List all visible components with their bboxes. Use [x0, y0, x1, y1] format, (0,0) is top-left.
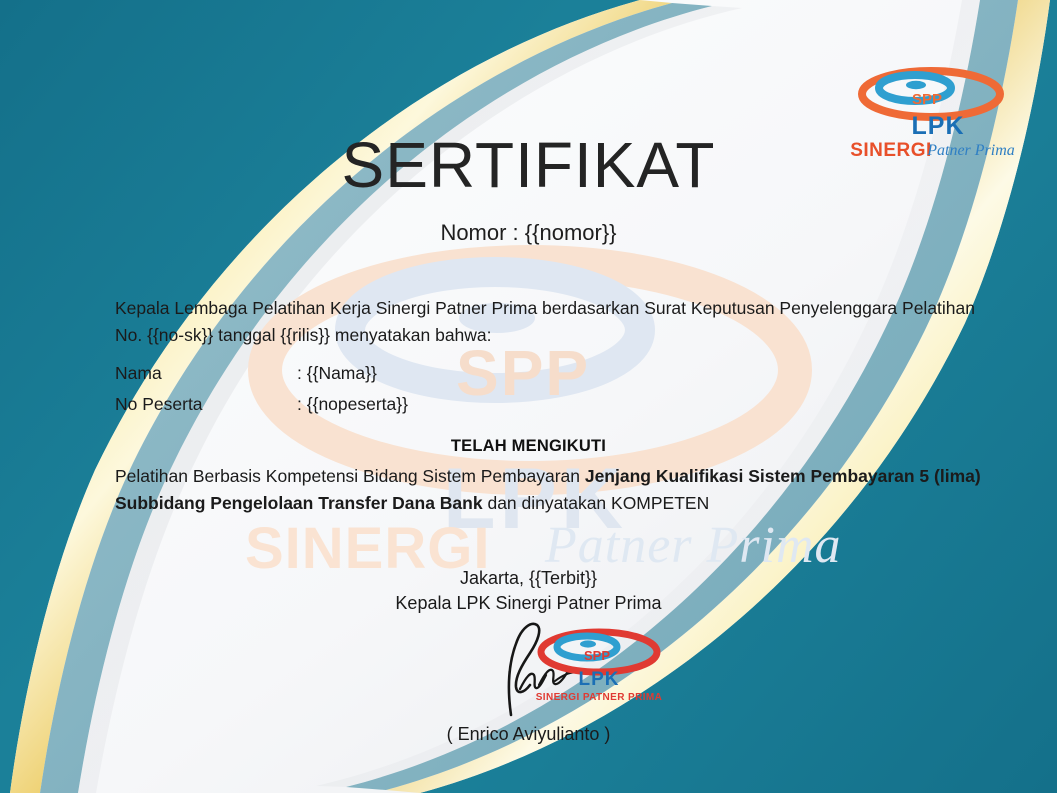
- svg-text:SPP: SPP: [584, 648, 610, 663]
- section-heading-telah-mengikuti: TELAH MENGIKUTI: [0, 437, 1057, 456]
- certificate-content: SERTIFIKAT Nomor : {{nomor}} Kepala Lemb…: [0, 0, 1057, 793]
- signature-place-block: Jakarta, {{Terbit}} Kepala LPK Sinergi P…: [0, 566, 1057, 616]
- field-value-no-peserta: : {{nopeserta}}: [297, 389, 815, 420]
- field-label-no-peserta: No Peserta: [115, 389, 297, 420]
- field-label-nama: Nama: [115, 358, 297, 389]
- training-desc-part1: Pelatihan Berbasis Kompetensi Bidang Sis…: [115, 466, 585, 486]
- certificate-number: Nomor : {{nomor}}: [0, 220, 1057, 246]
- svg-text:SINERGI PATNER PRIMA: SINERGI PATNER PRIMA: [536, 692, 663, 703]
- field-separator: :: [297, 363, 302, 383]
- field-placeholder-nama: {{Nama}}: [307, 363, 377, 383]
- logo-stamp: SPP LPK SINERGI PATNER PRIMA: [527, 627, 677, 707]
- signatory-name: ( Enrico Aviyulianto ): [0, 724, 1057, 745]
- field-separator: :: [297, 394, 302, 414]
- logo-brand-top-right: SPP LPK SINERGI Patner Prima: [843, 66, 1023, 166]
- svg-text:LPK: LPK: [912, 112, 965, 140]
- svg-text:Patner Prima: Patner Prima: [926, 142, 1015, 159]
- certificate-page: SPP LPK SINERGI Patner Prima SERTIFIKAT …: [0, 0, 1057, 793]
- field-row-no-peserta: No Peserta : {{nopeserta}}: [115, 389, 815, 420]
- field-row-nama: Nama : {{Nama}}: [115, 358, 815, 389]
- recipient-fields: Nama : {{Nama}} No Peserta : {{nopeserta…: [115, 358, 815, 420]
- svg-text:SINERGI: SINERGI: [850, 140, 932, 161]
- svg-text:SPP: SPP: [912, 91, 942, 108]
- field-placeholder-no-peserta: {{nopeserta}}: [307, 394, 408, 414]
- signature-place-date: Jakarta, {{Terbit}}: [0, 566, 1057, 591]
- training-desc-part2: dan dinyatakan KOMPETEN: [483, 493, 710, 513]
- preamble-paragraph: Kepala Lembaga Pelatihan Kerja Sinergi P…: [115, 295, 995, 349]
- svg-text:LPK: LPK: [579, 669, 620, 690]
- training-description-paragraph: Pelatihan Berbasis Kompetensi Bidang Sis…: [115, 463, 997, 517]
- field-value-nama: : {{Nama}}: [297, 358, 815, 389]
- signature-position: Kepala LPK Sinergi Patner Prima: [0, 591, 1057, 616]
